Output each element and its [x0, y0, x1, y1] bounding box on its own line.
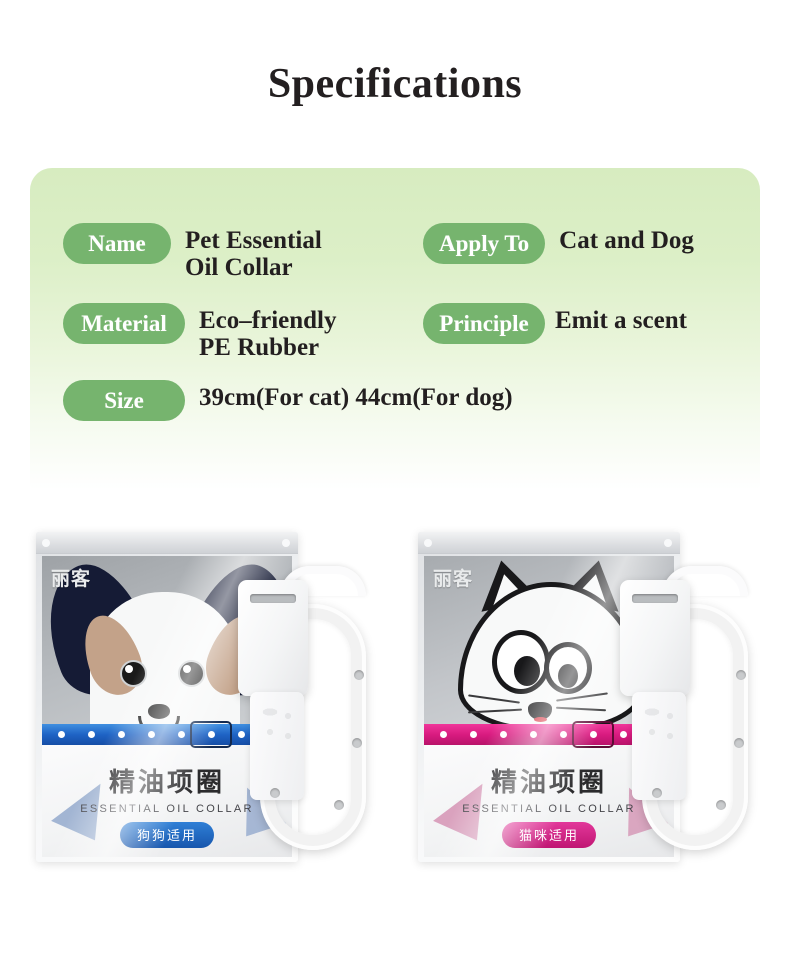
package-seal [418, 532, 680, 554]
collar-adjust-hole [352, 738, 362, 748]
spec-label-size: Size [63, 380, 185, 421]
product-gallery: 丽客 [0, 520, 790, 920]
spec-cell-material: Material Eco–friendly PE Rubber [63, 303, 423, 361]
spec-cell-name: Name Pet Essential Oil Collar [63, 223, 423, 281]
collar-product-dog [234, 560, 384, 860]
collar-strap-tail [250, 692, 304, 800]
collar-hole [58, 731, 65, 738]
collar-hole [118, 731, 125, 738]
cat-pupil-right-icon [558, 664, 578, 688]
collar-adjust-hole [734, 738, 744, 748]
spec-value-principle: Emit a scent [545, 303, 687, 334]
spec-panel: Name Pet Essential Oil Collar Apply To C… [30, 168, 760, 490]
collar-buckle-icon [572, 721, 614, 748]
collar-emboss-marking [260, 706, 294, 746]
collar-hole [148, 731, 155, 738]
collar-adjust-hole [652, 788, 662, 798]
product-cat: 丽客 [390, 520, 770, 900]
spec-cell-principle: Principle Emit a scent [423, 303, 753, 344]
spec-row: Size 39cm(For cat) 44cm(For dog) [63, 380, 513, 421]
spec-value-apply-to: Cat and Dog [545, 223, 694, 254]
collar-hole [500, 731, 507, 738]
collar-emboss-marking [642, 706, 676, 746]
collar-buckle-body [238, 580, 308, 696]
package-seal [36, 532, 298, 554]
spec-row: Name Pet Essential Oil Collar Apply To C… [63, 223, 753, 281]
package-badge-dog: 狗狗适用 [120, 822, 214, 848]
collar-hole [470, 731, 477, 738]
collar-hole [440, 731, 447, 738]
page-title: Specifications [0, 60, 790, 108]
spec-label-name: Name [63, 223, 171, 264]
spec-label-apply-to: Apply To [423, 223, 545, 264]
spec-value-name: Pet Essential Oil Collar [171, 223, 322, 281]
dog-eye-right-icon [178, 660, 205, 687]
cat-pupil-left-icon [514, 656, 540, 686]
spec-cell-size: Size 39cm(For cat) 44cm(For dog) [63, 380, 513, 421]
spec-label-material: Material [63, 303, 185, 344]
spec-cell-apply-to: Apply To Cat and Dog [423, 223, 753, 264]
collar-adjust-hole [270, 788, 280, 798]
spec-value-material: Eco–friendly PE Rubber [185, 303, 337, 361]
specifications-page: Specifications Name Pet Essential Oil Co… [0, 0, 790, 954]
collar-buckle-icon [190, 721, 232, 748]
spec-row: Material Eco–friendly PE Rubber Principl… [63, 303, 753, 361]
product-dog: 丽客 [8, 520, 388, 900]
spec-label-principle: Principle [423, 303, 545, 344]
collar-buckle-slot [250, 594, 296, 603]
collar-hole [178, 731, 185, 738]
collar-adjust-hole [354, 670, 364, 680]
spec-rows: Name Pet Essential Oil Collar Apply To C… [30, 168, 760, 490]
collar-adjust-hole [716, 800, 726, 810]
collar-hole [88, 731, 95, 738]
collar-adjust-hole [334, 800, 344, 810]
dog-eye-left-icon [120, 660, 147, 687]
collar-strap-tail [632, 692, 686, 800]
collar-hole [530, 731, 537, 738]
package-badge-cat: 猫咪适用 [502, 822, 596, 848]
collar-adjust-hole [736, 670, 746, 680]
collar-buckle-body [620, 580, 690, 696]
brand-logo: 丽客 [433, 564, 473, 591]
brand-logo: 丽客 [51, 564, 91, 591]
cat-lip-icon [534, 717, 547, 722]
collar-product-cat [616, 560, 766, 860]
collar-hole [560, 731, 567, 738]
collar-buckle-slot [632, 594, 678, 603]
spec-value-size: 39cm(For cat) 44cm(For dog) [185, 380, 513, 411]
